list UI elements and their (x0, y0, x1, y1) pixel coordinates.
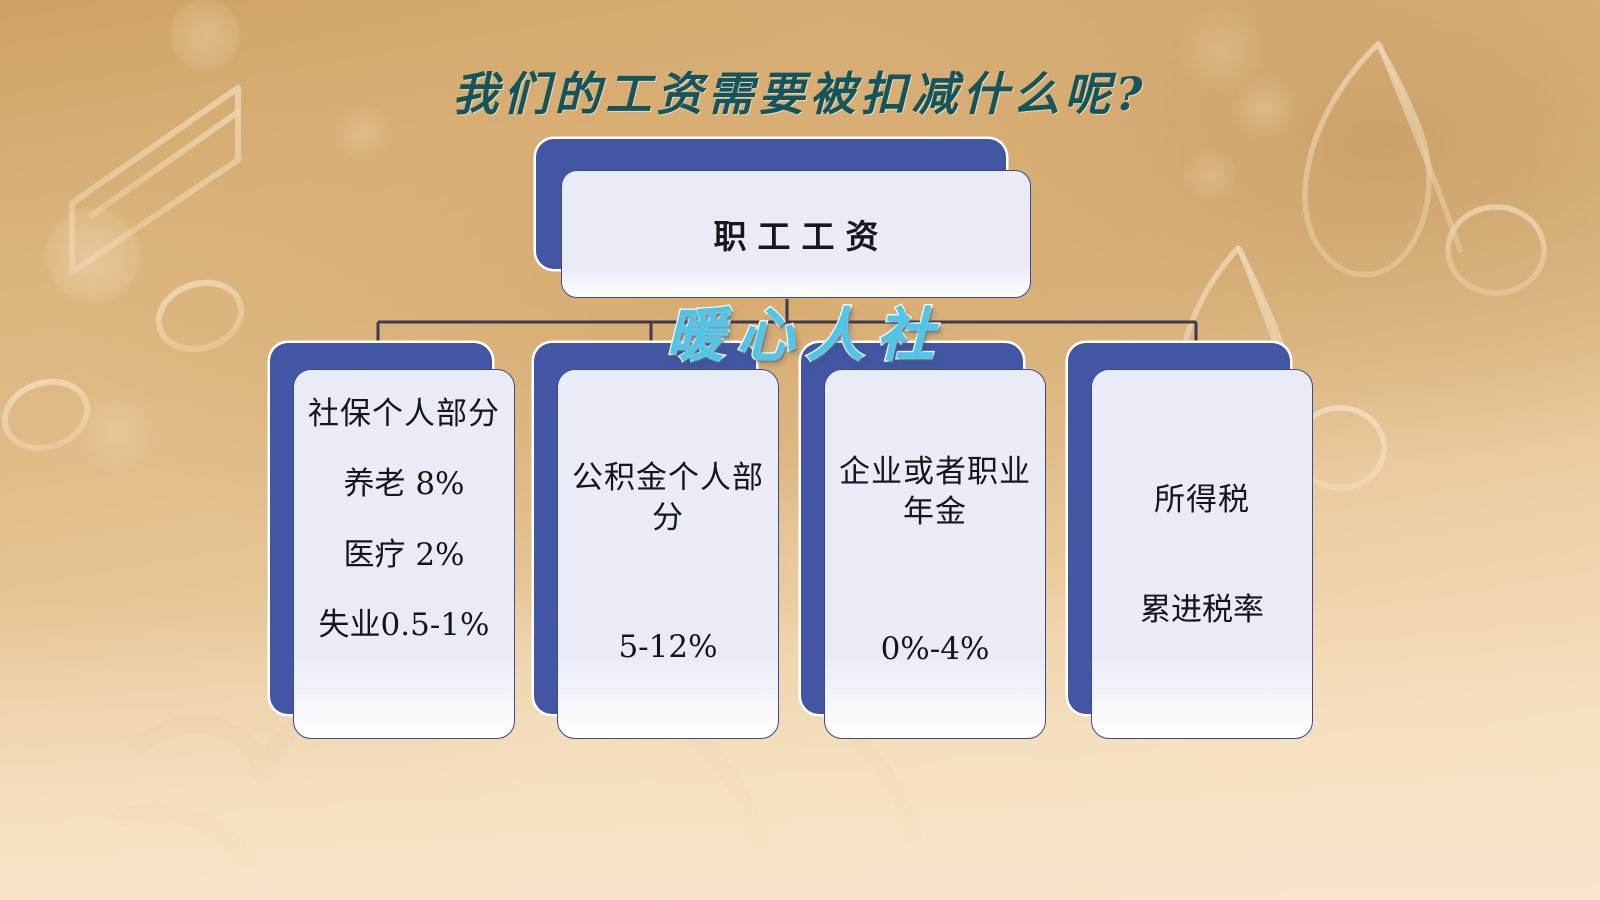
slide-title: 我们的工资需要被扣减什么呢? (0, 58, 1600, 124)
node-1-line-0: 养老 8% (302, 464, 506, 504)
node-2-line-0: 5-12% (566, 627, 770, 667)
node-root-face: 职工工资 (561, 170, 1031, 298)
node-2-lines: 5-12% (566, 539, 770, 667)
node-2-face: 公积金个人部分 5-12% (557, 369, 779, 739)
node-4-line-0: 累进税率 (1100, 590, 1304, 630)
background-bottom-fade (0, 600, 1600, 900)
node-4-lines: 累进税率 (1100, 520, 1304, 630)
node-4-face: 所得税 累进税率 (1091, 369, 1313, 739)
node-4-title: 所得税 (1100, 480, 1304, 520)
node-2-title: 公积金个人部分 (566, 458, 770, 539)
node-root-label: 职工工资 (703, 210, 890, 258)
node-3-line-0: 0%-4% (833, 629, 1037, 669)
node-root[interactable]: 职工工资 (536, 139, 1036, 299)
node-annuity[interactable]: 企业或者职业年金 0%-4% (801, 343, 1051, 763)
node-1-lines: 养老 8% 医疗 2% 失业0.5-1% (302, 434, 506, 645)
node-3-lines: 0%-4% (833, 533, 1037, 669)
node-income-tax[interactable]: 所得税 累进税率 (1068, 343, 1318, 763)
node-1-face: 社保个人部分 养老 8% 医疗 2% 失业0.5-1% (293, 369, 515, 739)
node-social-insurance[interactable]: 社保个人部分 养老 8% 医疗 2% 失业0.5-1% (270, 343, 520, 763)
node-3-title: 企业或者职业年金 (833, 452, 1037, 533)
node-1-title: 社保个人部分 (302, 394, 506, 434)
node-housing-fund[interactable]: 公积金个人部分 5-12% (534, 343, 784, 763)
node-1-line-2: 失业0.5-1% (302, 605, 506, 645)
node-3-face: 企业或者职业年金 0%-4% (824, 369, 1046, 739)
slide-canvas: 我们的工资需要被扣减什么呢? 职工工资 社保个人部分 养老 8% 医疗 2% (0, 0, 1600, 900)
node-1-line-1: 医疗 2% (302, 535, 506, 575)
